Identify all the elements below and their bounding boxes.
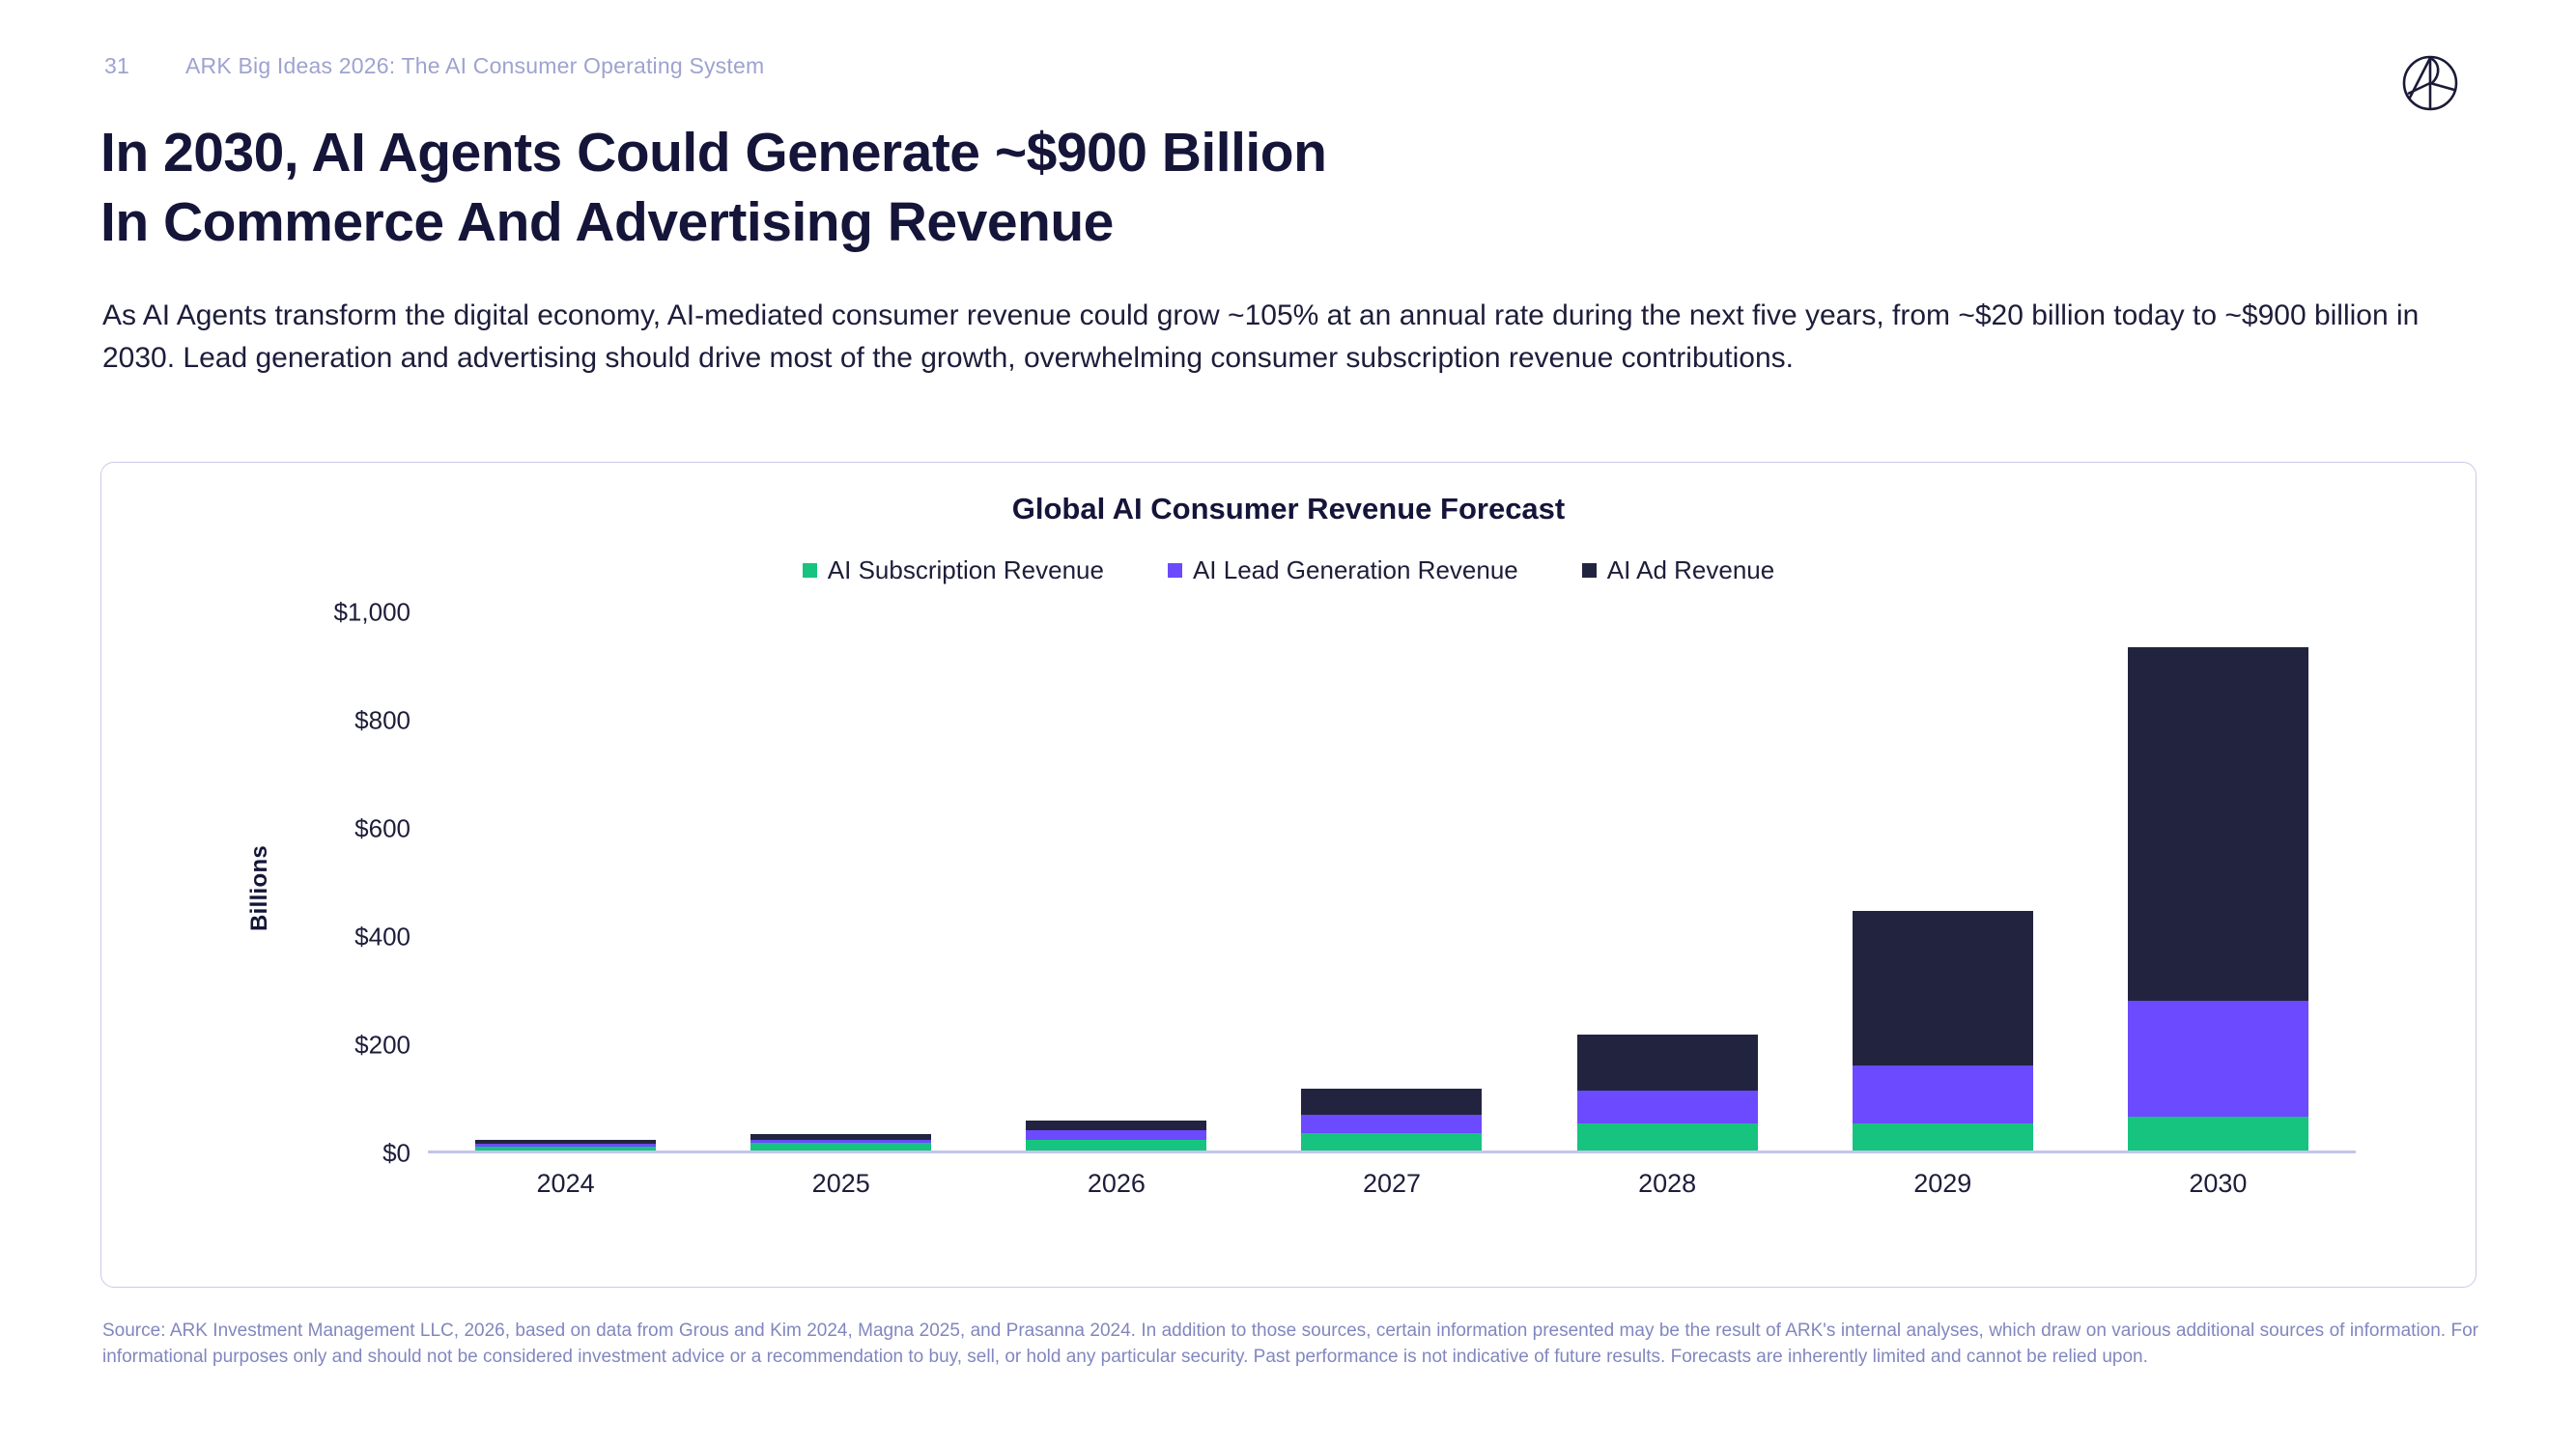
bar-segment[interactable] <box>1026 1140 1206 1151</box>
x-tick-label: 2026 <box>978 1169 1254 1199</box>
stacked-bar[interactable] <box>2128 647 2308 1151</box>
y-tick-label: $600 <box>354 814 410 844</box>
bar-segment[interactable] <box>1853 1065 2033 1123</box>
y-axis-ticks: $0$200$400$600$800$1,000 <box>217 612 410 1153</box>
bar-segment[interactable] <box>2128 647 2308 1001</box>
stacked-bar[interactable] <box>1301 1089 1482 1151</box>
page-title-line-2: In Commerce And Advertising Revenue <box>100 187 1326 257</box>
legend-swatch-subscription <box>803 563 817 578</box>
legend-swatch-lead-generation <box>1168 563 1182 578</box>
x-tick-label: 2029 <box>1805 1169 2081 1199</box>
bar-segment[interactable] <box>1301 1089 1482 1114</box>
bar-segment[interactable] <box>1301 1133 1482 1151</box>
slide: 31 ARK Big Ideas 2026: The AI Consumer O… <box>0 0 2576 1449</box>
legend-item-ad-revenue[interactable]: AI Ad Revenue <box>1582 555 1774 585</box>
bar-slot <box>2081 612 2356 1151</box>
slide-header: 31 ARK Big Ideas 2026: The AI Consumer O… <box>104 53 764 79</box>
stacked-bar[interactable] <box>475 1140 656 1151</box>
x-tick-label: 2027 <box>1254 1169 1529 1199</box>
y-tick-label: $800 <box>354 706 410 736</box>
legend-swatch-ad-revenue <box>1582 563 1597 578</box>
bar-segment[interactable] <box>1577 1091 1758 1123</box>
legend-label-subscription: AI Subscription Revenue <box>828 555 1104 585</box>
bar-segment[interactable] <box>2128 1117 2308 1151</box>
bar-segment[interactable] <box>1577 1035 1758 1092</box>
plot-area <box>428 612 2356 1153</box>
legend-item-lead-generation[interactable]: AI Lead Generation Revenue <box>1168 555 1518 585</box>
stacked-bar[interactable] <box>1853 911 2033 1151</box>
chart-title: Global AI Consumer Revenue Forecast <box>101 492 2476 526</box>
x-tick-label: 2024 <box>428 1169 703 1199</box>
x-tick-label: 2030 <box>2081 1169 2356 1199</box>
x-tick-label: 2025 <box>703 1169 978 1199</box>
stacked-bar[interactable] <box>1026 1121 1206 1151</box>
plot-wrapper: Billions $0$200$400$600$800$1,000 202420… <box>101 612 2477 1289</box>
legend-item-subscription[interactable]: AI Subscription Revenue <box>803 555 1104 585</box>
bar-slot <box>1530 612 1805 1151</box>
page-title-line-1: In 2030, AI Agents Could Generate ~$900 … <box>100 118 1326 187</box>
y-tick-label: $200 <box>354 1031 410 1061</box>
chart-card: Global AI Consumer Revenue Forecast AI S… <box>100 462 2477 1288</box>
chart-legend: AI Subscription Revenue AI Lead Generati… <box>101 555 2476 585</box>
x-axis-labels: 2024202520262027202820292030 <box>428 1169 2356 1199</box>
page-number: 31 <box>104 53 129 79</box>
page-title: In 2030, AI Agents Could Generate ~$900 … <box>100 118 1326 257</box>
bar-slot <box>978 612 1254 1151</box>
stacked-bar[interactable] <box>750 1134 931 1151</box>
legend-label-lead-generation: AI Lead Generation Revenue <box>1193 555 1518 585</box>
bar-group <box>428 612 2356 1151</box>
bar-segment[interactable] <box>1026 1130 1206 1140</box>
bar-segment[interactable] <box>1853 1123 2033 1151</box>
x-tick-label: 2028 <box>1530 1169 1805 1199</box>
x-axis-line <box>428 1151 2356 1153</box>
bar-segment[interactable] <box>1853 911 2033 1065</box>
bar-segment[interactable] <box>1577 1123 1758 1151</box>
deck-paragraph: As AI Agents transform the digital econo… <box>102 295 2449 380</box>
y-tick-label: $0 <box>382 1139 410 1169</box>
legend-label-ad-revenue: AI Ad Revenue <box>1607 555 1774 585</box>
bar-segment[interactable] <box>1301 1115 1482 1133</box>
y-tick-label: $1,000 <box>333 598 410 628</box>
bar-segment[interactable] <box>2128 1001 2308 1117</box>
stacked-bar[interactable] <box>1577 1035 1758 1151</box>
ark-circle-logo-icon <box>2400 53 2460 113</box>
bar-slot <box>1254 612 1529 1151</box>
bar-segment[interactable] <box>750 1143 931 1151</box>
source-note: Source: ARK Investment Management LLC, 2… <box>102 1318 2478 1370</box>
deck-title: ARK Big Ideas 2026: The AI Consumer Oper… <box>185 53 764 79</box>
bar-segment[interactable] <box>1026 1121 1206 1130</box>
bar-slot <box>1805 612 2081 1151</box>
y-tick-label: $400 <box>354 923 410 952</box>
bar-slot <box>703 612 978 1151</box>
bar-slot <box>428 612 703 1151</box>
